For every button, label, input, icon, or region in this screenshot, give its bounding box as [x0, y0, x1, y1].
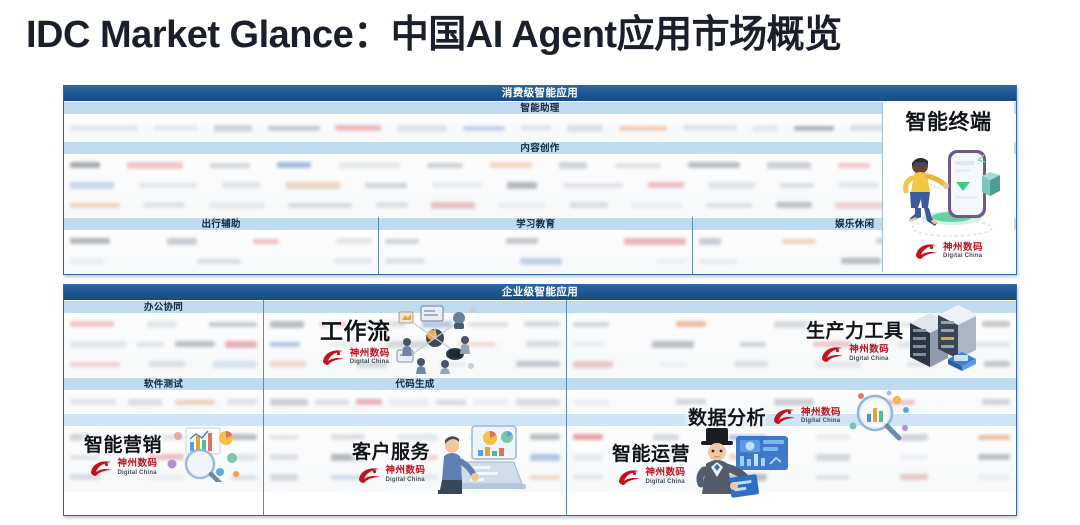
- vendor-logo: [338, 162, 400, 169]
- logo-wall-software-testing: [64, 391, 263, 413]
- vendor-logo: [385, 258, 425, 264]
- vendor-logo: [70, 474, 100, 480]
- vendor-logo: [516, 399, 560, 406]
- vendor-logo: [270, 361, 306, 367]
- vendor-logo: [231, 475, 257, 480]
- vendor-logo: [573, 454, 603, 461]
- logo-wall-smart-marketing: [64, 427, 263, 492]
- vendor-logo: [268, 126, 320, 131]
- band-right-top-spacer: [567, 300, 1016, 314]
- vendor-logo: [225, 341, 257, 348]
- woman-with-smartphone-icon: [890, 136, 1008, 240]
- band-software-testing: 软件测试: [64, 377, 263, 391]
- vendor-logo: [231, 454, 257, 461]
- vendor-logo: [376, 202, 408, 208]
- vendor-logo: [978, 474, 1010, 481]
- vendor-logo: [653, 474, 679, 480]
- vendor-logo: [506, 238, 538, 244]
- vendor-logo: [288, 203, 352, 208]
- vendor-logo: [978, 435, 1010, 440]
- vendor-logo: [231, 434, 257, 440]
- vendor-logo: [175, 400, 215, 405]
- vendor-logo: [398, 434, 438, 441]
- vendor-logo: [774, 321, 814, 328]
- vendor-logo: [154, 125, 198, 131]
- vendor-logo: [782, 239, 816, 244]
- vendor-logo: [729, 454, 767, 460]
- vendor-logo: [752, 125, 778, 132]
- vendor-logo: [210, 163, 250, 168]
- vendor-logo: [615, 163, 661, 168]
- vendor-logo: [982, 399, 1010, 405]
- vendor-logo: [330, 341, 356, 347]
- vendor-logo: [227, 399, 257, 405]
- vendor-logo: [70, 399, 116, 405]
- vendor-logo: [490, 162, 532, 168]
- vendor-logo: [570, 202, 608, 208]
- vendor-logo: [676, 321, 706, 327]
- vendor-logo: [706, 203, 752, 208]
- band-row3-left-spacer: [64, 413, 263, 427]
- band-middle-top-spacer: [264, 300, 566, 314]
- vendor-logo: [70, 126, 138, 131]
- logo-wall-travel: [64, 231, 378, 275]
- band-content-creation: 内容创作: [64, 141, 1016, 155]
- vendor-logo: [816, 434, 850, 440]
- vendor-logo: [136, 342, 164, 347]
- enterprise-column-left: 办公协同 软件测试: [64, 300, 263, 516]
- vendor-logo: [270, 454, 298, 460]
- vendor-logo: [699, 259, 737, 264]
- vendor-logo: [652, 341, 694, 348]
- vendor-logo: [567, 125, 603, 132]
- page-title: IDC Market Glance：中国AI Agent应用市场概览: [26, 14, 842, 58]
- brand-name-cn: 神州数码: [943, 243, 983, 253]
- column-education: 学习教育: [378, 217, 692, 275]
- vendor-logo: [315, 400, 349, 405]
- vendor-logo: [468, 322, 508, 327]
- vendor-logo: [881, 400, 915, 405]
- vendor-logo: [422, 321, 452, 328]
- vendor-logo: [149, 361, 185, 367]
- logo-wall-smart-assistant: [64, 115, 1016, 141]
- vendor-logo: [471, 435, 497, 440]
- vendor-logo: [524, 321, 560, 327]
- vendor-logo: [331, 434, 365, 440]
- vendor-logo: [507, 182, 537, 189]
- vendor-logo: [331, 475, 365, 480]
- vendor-logo: [432, 182, 482, 188]
- vendor-logo: [815, 361, 861, 368]
- vendor-logo: [398, 474, 438, 480]
- column-travel: 出行辅助: [64, 217, 378, 275]
- vendor-logo: [70, 362, 120, 367]
- vendor-logo: [463, 126, 505, 131]
- vendor-logo: [70, 455, 100, 460]
- consumer-bottom-columns: 出行辅助 学习教育 娱乐休闲: [64, 217, 1016, 275]
- vendor-logo: [839, 182, 879, 188]
- vendor-logo: [521, 125, 551, 131]
- vendor-logo: [776, 202, 812, 208]
- vendor-logo: [656, 259, 686, 264]
- vendor-logo: [427, 163, 463, 168]
- vendor-logo: [563, 183, 623, 188]
- callout-smart-terminal: 智能终端: [882, 102, 1014, 272]
- vendor-logo: [143, 202, 185, 208]
- vendor-logo: [734, 361, 768, 367]
- vendor-logo: [270, 321, 304, 328]
- vendor-logo: [573, 475, 603, 480]
- vendor-logo: [838, 163, 870, 168]
- vendor-logo: [175, 341, 215, 347]
- vendor-logo: [70, 434, 100, 441]
- vendor-logo: [471, 474, 497, 481]
- brand-name-en: Digital China: [943, 253, 983, 259]
- vendor-logo: [530, 454, 560, 461]
- vendor-logo: [631, 202, 683, 209]
- enterprise-column-right: [566, 300, 1016, 516]
- enterprise-column-middle: 代码生成: [263, 300, 566, 516]
- vendor-logo: [356, 399, 382, 405]
- vendor-logo: [127, 162, 183, 169]
- vendor-logo: [813, 341, 851, 347]
- vendor-logo: [385, 239, 419, 244]
- vendor-logo: [70, 182, 114, 189]
- digital-china-swoosh-icon: [914, 242, 940, 260]
- vendor-logo: [213, 361, 257, 368]
- enterprise-section-panel: 企业级智能应用 办公协同 软件测试: [63, 284, 1017, 516]
- vendor-logo: [270, 342, 300, 347]
- logo-wall-customer-service: [264, 427, 566, 492]
- vendor-logo: [320, 322, 346, 327]
- vendor-logo: [70, 203, 120, 208]
- vendor-logo: [386, 341, 428, 348]
- vendor-logo: [277, 162, 311, 168]
- vendor-logo: [389, 399, 429, 406]
- vendor-logo: [431, 202, 475, 209]
- band-office-collaboration: 办公协同: [64, 300, 263, 314]
- vendor-logo: [900, 434, 928, 441]
- vendor-logo: [573, 400, 609, 405]
- vendor-logo: [70, 162, 100, 168]
- vendor-logo: [907, 362, 937, 367]
- band-row3-right-spacer: [567, 413, 1016, 427]
- vendor-logo: [336, 238, 372, 244]
- enterprise-section-header: 企业级智能应用: [64, 285, 1016, 300]
- vendor-logo: [794, 126, 834, 131]
- vendor-logo: [709, 182, 755, 189]
- vendor-logo: [676, 399, 706, 405]
- vendor-logo: [147, 321, 177, 328]
- vendor-logo: [167, 238, 197, 245]
- vendor-logo: [473, 399, 509, 405]
- digital-china-logo: 神州数码 Digital China: [914, 242, 983, 260]
- vendor-logo: [683, 125, 737, 131]
- logo-wall-workflow: [264, 314, 566, 377]
- vendor-logo: [270, 435, 298, 440]
- vendor-logo: [653, 455, 679, 460]
- vendor-logo: [699, 238, 721, 245]
- logo-wall-code-generation: [264, 391, 566, 413]
- vendor-logo: [897, 341, 927, 348]
- band-right-mid-spacer: [567, 377, 1016, 391]
- callout-title-smart-terminal: 智能终端: [906, 106, 992, 136]
- vendor-logo: [984, 361, 1010, 367]
- vendor-logo: [70, 238, 110, 244]
- vendor-logo: [398, 455, 438, 460]
- vendor-logo: [974, 342, 1010, 347]
- logo-wall-education: [379, 231, 692, 275]
- vendor-logo: [767, 162, 811, 169]
- vendor-logo: [729, 435, 767, 440]
- vendor-logo: [148, 474, 184, 481]
- vendor-logo: [498, 203, 546, 208]
- vendor-logo: [516, 361, 560, 367]
- vendor-logo: [573, 322, 609, 327]
- vendor-logo: [439, 362, 465, 367]
- vendor-logo: [774, 399, 814, 406]
- vendor-logo: [148, 435, 184, 440]
- vendor-logo: [526, 341, 560, 347]
- vendor-logo: [209, 202, 265, 209]
- vendor-logo: [729, 474, 767, 481]
- vendor-logo: [573, 361, 613, 368]
- vendor-logo: [334, 258, 372, 264]
- vendor-logo: [270, 399, 308, 406]
- vendor-logo: [253, 239, 279, 244]
- band-smart-assistant: 智能助理: [64, 101, 1016, 115]
- vendor-logo: [270, 474, 298, 481]
- vendor-logo: [881, 322, 915, 327]
- vendor-logo: [982, 321, 1010, 327]
- vendor-logo: [397, 125, 447, 132]
- band-learning-education: 学习教育: [379, 217, 692, 231]
- vendor-logo: [624, 238, 686, 245]
- vendor-logo: [458, 342, 496, 347]
- vendor-logo: [648, 182, 684, 188]
- vendor-logo: [70, 341, 126, 348]
- vendor-logo: [197, 259, 241, 264]
- vendor-logo: [128, 399, 162, 406]
- vendor-logo: [573, 341, 605, 347]
- vendor-logo: [70, 321, 114, 327]
- vendor-logo: [520, 258, 562, 265]
- band-travel-assist: 出行辅助: [64, 217, 378, 231]
- enterprise-columns: 办公协同 软件测试: [64, 300, 1016, 516]
- band-code-generation: 代码生成: [264, 377, 566, 391]
- vendor-logo: [214, 125, 252, 132]
- vendor-logo: [209, 322, 257, 327]
- vendor-logo: [331, 454, 365, 461]
- vendor-logo: [900, 455, 928, 460]
- logo-wall-data-analysis: [567, 391, 1016, 413]
- vendor-logo: [816, 475, 850, 480]
- consumer-section-panel: 消费级智能应用 智能助理 内容创作 出行辅助 学习教育 娱乐休闲: [63, 85, 1017, 275]
- vendor-logo: [841, 258, 881, 264]
- logo-wall-productivity: [567, 314, 1016, 377]
- vendor-logo: [653, 434, 679, 441]
- vendor-logo: [559, 162, 587, 169]
- vendor-logo: [573, 434, 603, 440]
- vendor-logo: [335, 125, 381, 131]
- vendor-logo: [619, 126, 667, 131]
- band-row3-middle-spacer: [264, 413, 566, 427]
- vendor-logo: [816, 454, 850, 461]
- vendor-logo: [978, 454, 1010, 460]
- vendor-logo: [436, 400, 466, 405]
- vendor-logo: [365, 183, 407, 188]
- vendor-logo: [471, 454, 497, 460]
- consumer-section-header: 消费级智能应用: [64, 86, 1016, 101]
- logo-wall-office: [64, 314, 263, 377]
- vendor-logo: [660, 362, 688, 367]
- logo-wall-smart-operations: [567, 427, 1016, 492]
- vendor-logo: [139, 183, 197, 188]
- vendor-logo: [222, 182, 260, 188]
- vendor-logo: [148, 454, 184, 460]
- vendor-logo: [286, 182, 340, 189]
- vendor-logo: [362, 321, 406, 327]
- vendor-logo: [530, 475, 560, 480]
- vendor-logo: [900, 474, 928, 480]
- vendor-logo: [780, 183, 814, 188]
- vendor-logo: [357, 361, 387, 368]
- vendor-logo: [688, 162, 740, 168]
- vendor-logo: [70, 258, 104, 265]
- vendor-logo: [530, 434, 560, 440]
- vendor-logo: [740, 342, 766, 347]
- logo-wall-content-creation: [64, 155, 1016, 217]
